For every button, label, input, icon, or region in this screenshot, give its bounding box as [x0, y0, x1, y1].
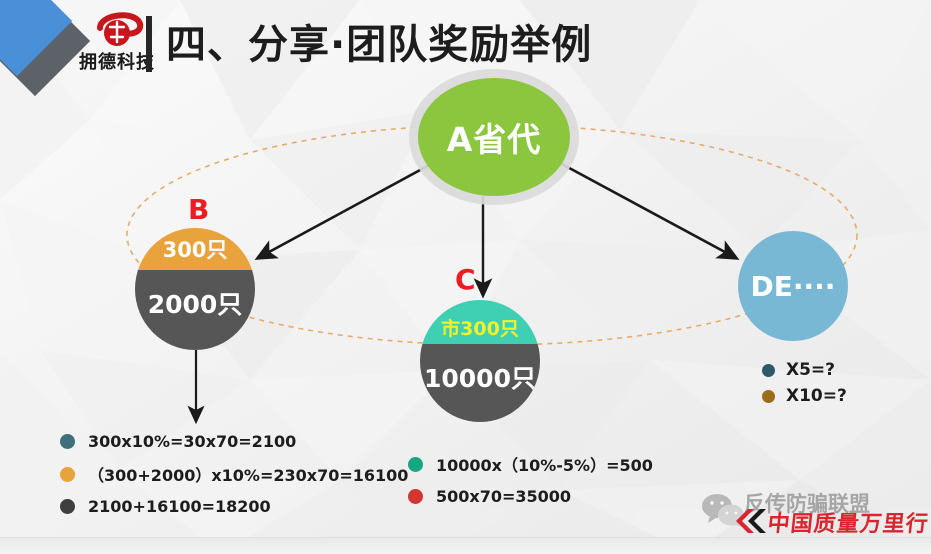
- node-b-bottom-segment: 2000只: [135, 270, 255, 350]
- company-name: 拥德科技: [62, 48, 172, 74]
- node-c-bottom-segment: 10000只: [420, 344, 540, 422]
- node-a-label: A省代: [418, 78, 570, 196]
- legend-item: 300x10%=30x70=2100: [60, 432, 408, 451]
- legend-item: 500x70=35000: [408, 487, 653, 506]
- node-de[interactable]: DE····: [738, 231, 848, 341]
- node-a-province-agent[interactable]: A省代: [418, 78, 570, 196]
- legend-text: 10000x（10%-5%）=500: [436, 452, 653, 476]
- node-b-top-label: 300只: [163, 234, 228, 264]
- swirl-logo-icon: [90, 8, 146, 52]
- node-b[interactable]: 300只 2000只: [135, 228, 255, 350]
- bottom-band: [0, 537, 931, 554]
- node-c-top-label: 市300只: [441, 304, 519, 341]
- slide-canvas: 拥德科技 四、分享·团队奖励举例 A省代 B 300只 2000只 C 市300…: [0, 0, 931, 554]
- arrow-a-to-b: [258, 163, 433, 258]
- legend-multiplier: X5=? X10=?: [762, 360, 847, 412]
- bullet-dot-icon: [60, 434, 75, 449]
- legend-right: 10000x（10%-5%）=500 500x70=35000: [408, 452, 653, 517]
- bullet-dot-icon: [762, 390, 775, 403]
- legend-left: 300x10%=30x70=2100 （300+2000）x10%=230x70…: [60, 432, 408, 527]
- legend-text: 300x10%=30x70=2100: [88, 432, 296, 451]
- node-c-top-segment: 市300只: [420, 300, 540, 344]
- legend-text: 500x70=35000: [436, 487, 571, 506]
- legend-item: X10=?: [762, 386, 847, 406]
- legend-text: （300+2000）x10%=230x70=16100: [88, 462, 408, 486]
- legend-text: X5=?: [786, 360, 835, 380]
- watermark: 反传防骗联盟 中国质量万里行: [700, 487, 925, 543]
- legend-item: 2100+16100=18200: [60, 497, 408, 516]
- watermark-red-text: 中国质量万里行: [766, 506, 930, 538]
- bullet-dot-icon: [762, 364, 775, 377]
- label-b: B: [188, 193, 209, 226]
- red-chevron-icon: [736, 507, 770, 535]
- node-b-bottom-label: 2000只: [148, 285, 243, 335]
- legend-item: （300+2000）x10%=230x70=16100: [60, 462, 408, 486]
- legend-text: 2100+16100=18200: [88, 497, 271, 516]
- company-logo: 拥德科技: [62, 8, 172, 82]
- node-b-top-segment: 300只: [135, 228, 255, 270]
- bullet-dot-icon: [408, 457, 423, 472]
- bullet-dot-icon: [60, 499, 75, 514]
- node-c[interactable]: 市300只 10000只: [420, 300, 540, 422]
- node-c-bottom-label: 10000只: [424, 359, 536, 407]
- arrow-a-to-de: [560, 163, 736, 258]
- legend-text: X10=?: [786, 386, 847, 406]
- legend-item: X5=?: [762, 360, 847, 380]
- label-c: C: [455, 263, 476, 296]
- bullet-dot-icon: [60, 467, 75, 482]
- title-divider: [146, 16, 152, 72]
- bullet-dot-icon: [408, 489, 423, 504]
- node-de-label: DE····: [751, 270, 836, 303]
- legend-item: 10000x（10%-5%）=500: [408, 452, 653, 476]
- page-title: 四、分享·团队奖励举例: [166, 16, 592, 74]
